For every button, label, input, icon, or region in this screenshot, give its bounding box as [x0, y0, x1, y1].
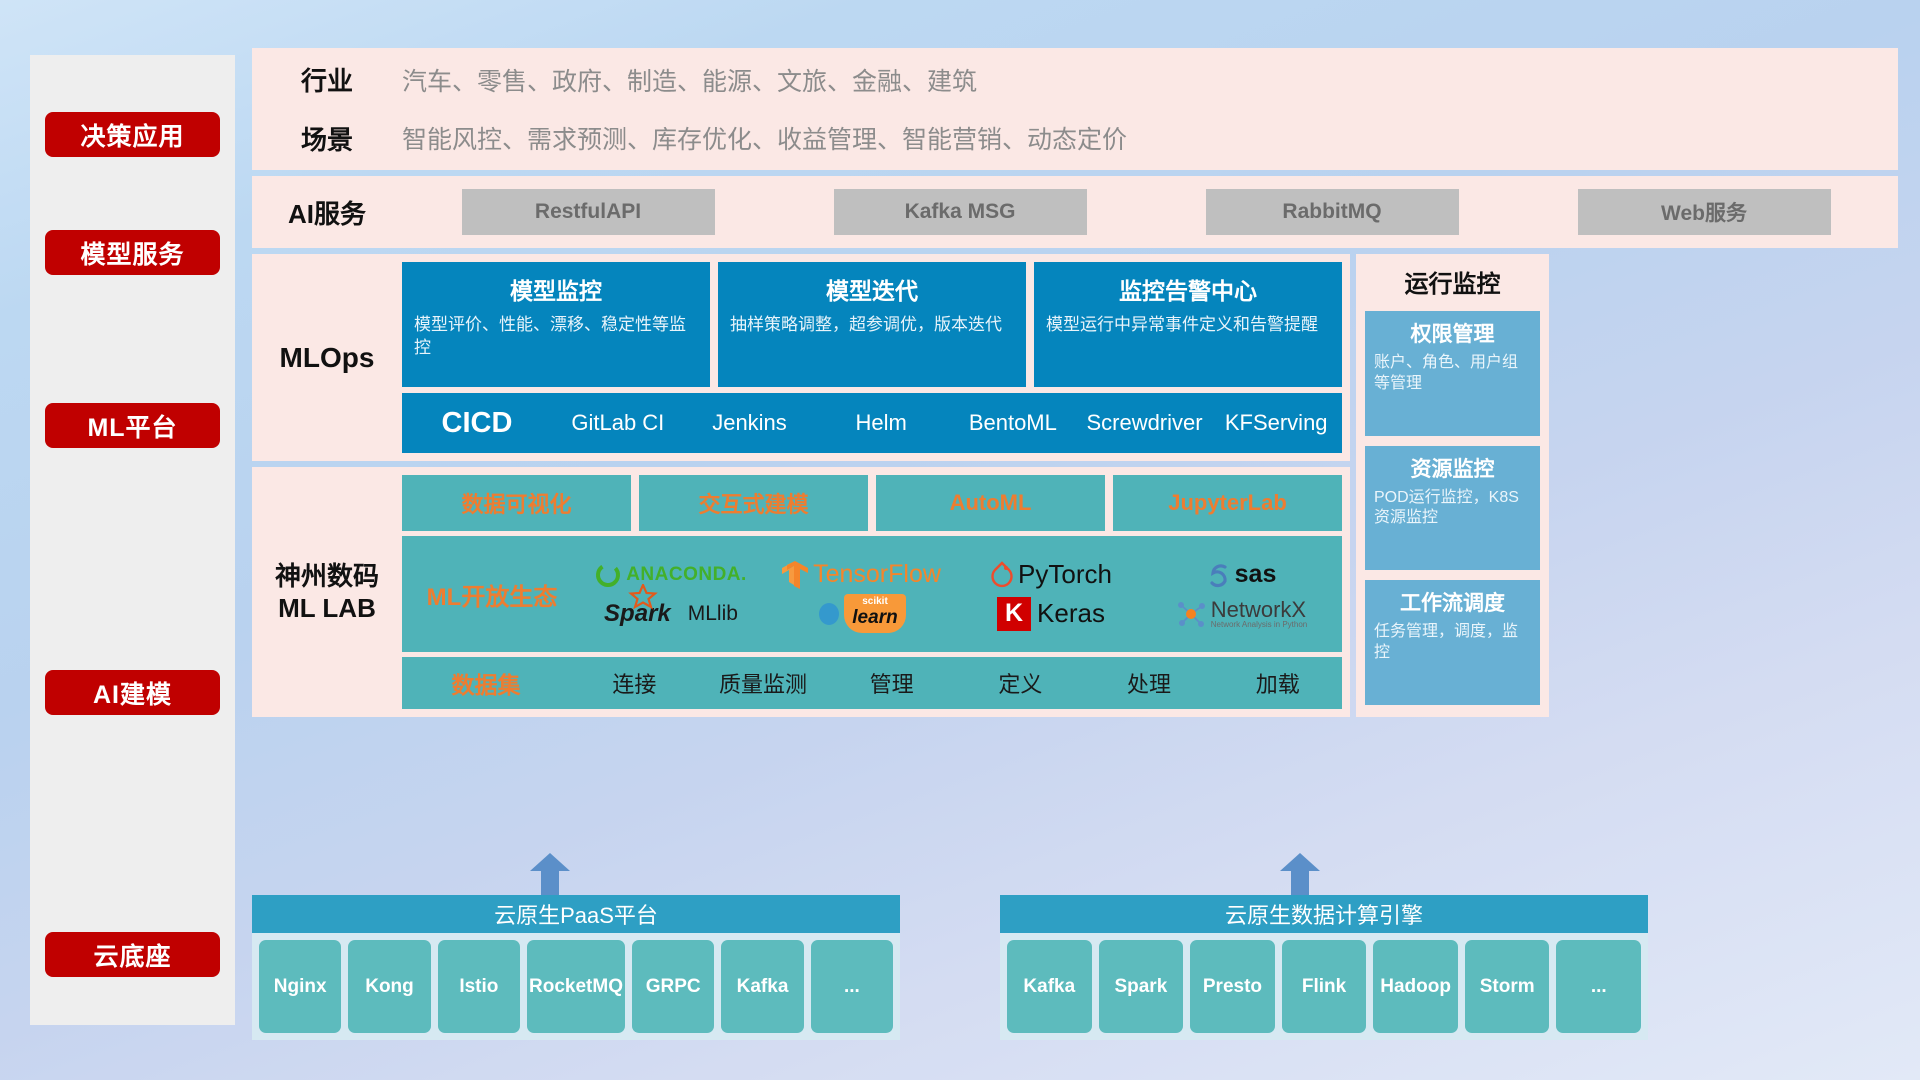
engine-chip-more[interactable]: ...	[1556, 940, 1641, 1033]
paas-chip-grpc[interactable]: GRPC	[632, 940, 714, 1033]
mlops-card-desc: 模型运行中异常事件定义和告警提醒	[1046, 314, 1330, 337]
data-engine-title: 云原生数据计算引擎	[1000, 895, 1648, 933]
lab-tool-interactive-modeling[interactable]: 交互式建模	[639, 475, 868, 531]
ml-lab-content: 数据可视化 交互式建模 AutoML JupyterLab ML开放生态 ANA…	[402, 475, 1342, 709]
monitoring-card-workflow[interactable]: 工作流调度 任务管理，调度，监控	[1365, 580, 1540, 705]
cicd-title: CICD	[402, 407, 552, 440]
dataset-step-loading[interactable]: 加载	[1213, 667, 1342, 699]
monitoring-card-resource[interactable]: 资源监控 POD运行监控，K8S资源监控	[1365, 446, 1540, 571]
networkx-logo-subtitle: Network Analysis in Python	[1211, 621, 1308, 629]
ml-ecosystem: ML开放生态 ANACONDA.	[402, 536, 1342, 652]
monitoring-card-desc: 任务管理，调度，监控	[1374, 622, 1531, 664]
layer-chip-cloud-foundation[interactable]: 云底座	[45, 932, 220, 977]
ai-service-item-web-service[interactable]: Web服务	[1578, 189, 1831, 235]
ml-lab-label: 神州数码 ML LAB	[252, 560, 402, 625]
mlops-card-model-monitoring[interactable]: 模型监控 模型评价、性能、漂移、稳定性等监控	[402, 262, 710, 387]
engine-chip-spark[interactable]: Spark	[1099, 940, 1184, 1033]
mlops-band: MLOps 模型监控 模型评价、性能、漂移、稳定性等监控 模型迭代 抽样策略调整…	[252, 254, 1350, 461]
paas-chips: Nginx Kong Istio RocketMQ GRPC Kafka ...	[252, 933, 900, 1040]
ml-lab-band: 神州数码 ML LAB 数据可视化 交互式建模 AutoML JupyterLa…	[252, 467, 1350, 717]
layer-chip-ai-modeling[interactable]: AI建模	[45, 670, 220, 715]
industry-value: 汽车、零售、政府、制造、能源、文旅、金融、建筑	[402, 62, 1898, 98]
mlops-card-desc: 模型评价、性能、漂移、稳定性等监控	[414, 314, 698, 360]
layer-chip-label: AI建模	[93, 675, 172, 711]
networkx-logo-text: NetworkX	[1211, 599, 1308, 621]
monitoring-card-title: 资源监控	[1374, 453, 1531, 483]
ml-ecosystem-label: ML开放生态	[408, 577, 576, 612]
cicd-item-screwdriver[interactable]: Screwdriver	[1079, 412, 1211, 434]
paas-title: 云原生PaaS平台	[252, 895, 900, 933]
mlops-cards: 模型监控 模型评价、性能、漂移、稳定性等监控 模型迭代 抽样策略调整，超参调优，…	[402, 262, 1342, 387]
applications-band-labels: 行业 场景	[252, 61, 402, 157]
up-arrow-icon	[528, 853, 572, 895]
engine-chip-storm[interactable]: Storm	[1465, 940, 1550, 1033]
mlops-card-title: 监控告警中心	[1046, 272, 1330, 306]
layer-chip-label: 模型服务	[80, 235, 184, 271]
industry-label: 行业	[301, 61, 353, 98]
ai-service-boxes: RestfulAPI Kafka MSG RabbitMQ Web服务	[402, 189, 1898, 235]
applications-values: 汽车、零售、政府、制造、能源、文旅、金融、建筑 智能风控、需求预测、库存优化、收…	[402, 62, 1898, 156]
sas-logo: sas	[1206, 560, 1277, 589]
layer-chip-decision-application[interactable]: 决策应用	[45, 112, 220, 157]
dataset-step-processing[interactable]: 处理	[1085, 667, 1214, 699]
dataset-step-management[interactable]: 管理	[827, 667, 956, 699]
scenario-label: 场景	[301, 120, 353, 157]
pytorch-logo: PyTorch	[990, 559, 1112, 590]
data-engine-chips: Kafka Spark Presto Flink Hadoop Storm ..…	[1000, 933, 1648, 1040]
layer-chip-ml-platform[interactable]: ML平台	[45, 403, 220, 448]
paas-chip-more[interactable]: ...	[811, 940, 893, 1033]
paas-group: 云原生PaaS平台 Nginx Kong Istio RocketMQ GRPC…	[252, 895, 900, 1040]
mlops-card-desc: 抽样策略调整，超参调优，版本迭代	[730, 314, 1014, 337]
monitoring-card-permission[interactable]: 权限管理 账户、角色、用户组等管理	[1365, 311, 1540, 436]
dataset-step-quality-monitoring[interactable]: 质量监测	[699, 667, 828, 699]
layer-rail: 决策应用 模型服务 ML平台 AI建模 云底座	[30, 55, 235, 1025]
monitoring-card-desc: 账户、角色、用户组等管理	[1374, 353, 1531, 395]
paas-chip-kafka[interactable]: Kafka	[721, 940, 803, 1033]
scikit-learn-logo-text: learn	[852, 607, 897, 629]
dataset-step-connect[interactable]: 连接	[570, 667, 699, 699]
cicd-item-jenkins[interactable]: Jenkins	[684, 412, 816, 434]
sas-logo-text: sas	[1235, 560, 1277, 589]
ai-service-item-kafka-msg[interactable]: Kafka MSG	[834, 189, 1087, 235]
applications-band: 行业 场景 汽车、零售、政府、制造、能源、文旅、金融、建筑 智能风控、需求预测、…	[252, 48, 1898, 170]
monitoring-card-title: 工作流调度	[1374, 587, 1531, 617]
ml-lab-tools: 数据可视化 交互式建模 AutoML JupyterLab	[402, 475, 1342, 531]
layer-chip-model-service[interactable]: 模型服务	[45, 230, 220, 275]
layer-chip-label: 云底座	[93, 937, 171, 973]
dataset-row: 数据集 连接 质量监测 管理 定义 处理 加载	[402, 657, 1342, 709]
mlops-label: MLOps	[252, 342, 402, 374]
keras-logo-text: Keras	[1037, 598, 1105, 629]
platform-row: MLOps 模型监控 模型评价、性能、漂移、稳定性等监控 模型迭代 抽样策略调整…	[252, 254, 1898, 717]
mlops-content: 模型监控 模型评价、性能、漂移、稳定性等监控 模型迭代 抽样策略调整，超参调优，…	[402, 262, 1342, 453]
monitoring-column: 运行监控 权限管理 账户、角色、用户组等管理 资源监控 POD运行监控，K8S资…	[1356, 254, 1549, 717]
dataset-label: 数据集	[402, 666, 570, 700]
engine-chip-kafka[interactable]: Kafka	[1007, 940, 1092, 1033]
monitoring-title: 运行监控	[1405, 264, 1501, 299]
ai-service-band: AI服务 RestfulAPI Kafka MSG RabbitMQ Web服务	[252, 176, 1898, 248]
networkx-logo: NetworkX Network Analysis in Python	[1175, 599, 1308, 629]
dataset-step-definition[interactable]: 定义	[956, 667, 1085, 699]
mlops-card-title: 模型监控	[414, 272, 698, 306]
tensorflow-logo: TensorFlow	[781, 560, 941, 590]
cloud-foundation-row: 云原生PaaS平台 Nginx Kong Istio RocketMQ GRPC…	[252, 895, 1898, 1040]
mlops-card-alert-center[interactable]: 监控告警中心 模型运行中异常事件定义和告警提醒	[1034, 262, 1342, 387]
monitoring-card-desc: POD运行监控，K8S资源监控	[1374, 488, 1531, 530]
data-engine-group: 云原生数据计算引擎 Kafka Spark Presto Flink Hadoo…	[1000, 895, 1648, 1040]
ai-service-item-restfulapi[interactable]: RestfulAPI	[462, 189, 715, 235]
engine-chip-presto[interactable]: Presto	[1190, 940, 1275, 1033]
cicd-strip: CICD GitLab CI Jenkins Helm BentoML Scre…	[402, 393, 1342, 453]
cicd-item-kfserving[interactable]: KFServing	[1210, 412, 1342, 434]
ai-service-label: AI服务	[252, 194, 402, 231]
mllib-logo-text: MLlib	[688, 602, 738, 626]
ai-service-item-rabbitmq[interactable]: RabbitMQ	[1206, 189, 1459, 235]
engine-chip-flink[interactable]: Flink	[1282, 940, 1367, 1033]
ml-lab-label-en: ML LAB	[278, 592, 376, 625]
keras-logo: K Keras	[997, 597, 1105, 631]
mlops-card-title: 模型迭代	[730, 272, 1014, 306]
up-arrow-icon	[1278, 853, 1322, 895]
paas-chip-rocketmq[interactable]: RocketMQ	[527, 940, 625, 1033]
cicd-item-gitlab-ci[interactable]: GitLab CI	[552, 412, 684, 434]
ml-ecosystem-logos: ANACONDA. TensorFlow	[576, 555, 1336, 633]
architecture-stack: 行业 场景 汽车、零售、政府、制造、能源、文旅、金融、建筑 智能风控、需求预测、…	[252, 48, 1898, 723]
anaconda-logo: ANACONDA.	[595, 562, 747, 588]
pytorch-logo-text: PyTorch	[1018, 559, 1112, 590]
lab-tool-jupyterlab[interactable]: JupyterLab	[1113, 475, 1342, 531]
layer-chip-label: 决策应用	[80, 117, 184, 153]
cicd-item-helm[interactable]: Helm	[815, 412, 947, 434]
monitoring-card-title: 权限管理	[1374, 318, 1531, 348]
mlops-card-model-iteration[interactable]: 模型迭代 抽样策略调整，超参调优，版本迭代	[718, 262, 1026, 387]
paas-chip-kong[interactable]: Kong	[348, 940, 430, 1033]
engine-chip-hadoop[interactable]: Hadoop	[1373, 940, 1458, 1033]
spark-mllib-logo: Spark MLlib	[604, 600, 738, 628]
anaconda-logo-text: ANACONDA.	[626, 564, 747, 586]
tensorflow-logo-text: TensorFlow	[813, 560, 941, 589]
paas-chip-nginx[interactable]: Nginx	[259, 940, 341, 1033]
ml-lab-label-cn: 神州数码	[275, 560, 379, 593]
scikit-learn-logo: scikit learn	[816, 594, 905, 633]
layer-chip-label: ML平台	[87, 408, 177, 444]
cicd-item-bentoml[interactable]: BentoML	[947, 412, 1079, 434]
scenario-value: 智能风控、需求预测、库存优化、收益管理、智能营销、动态定价	[402, 120, 1898, 156]
paas-chip-istio[interactable]: Istio	[438, 940, 520, 1033]
lab-tool-automl[interactable]: AutoML	[876, 475, 1105, 531]
lab-tool-data-visualization[interactable]: 数据可视化	[402, 475, 631, 531]
